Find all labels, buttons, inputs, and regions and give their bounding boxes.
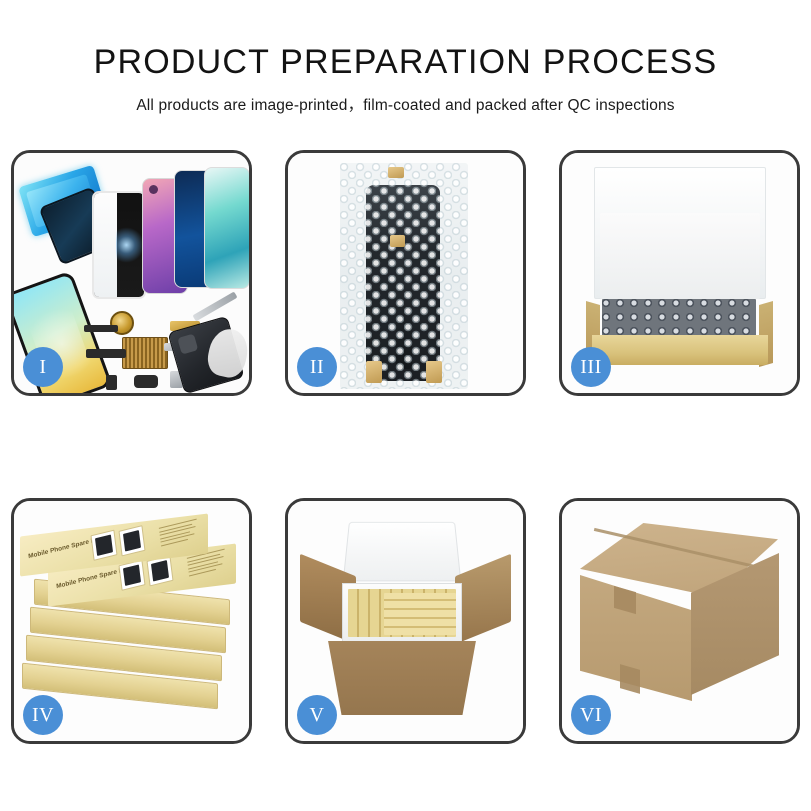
step-4-image: Mobile Phone Spare Parts Mobile Phone Sp… xyxy=(14,501,249,741)
inner-box-front xyxy=(592,335,768,365)
carton-tape-lower xyxy=(620,664,640,694)
carton-flap-right xyxy=(455,554,511,645)
step-badge-2: II xyxy=(297,347,337,387)
foam-sheet xyxy=(600,213,760,299)
step-badge-4: IV xyxy=(23,695,63,735)
bubble-wrapped-product xyxy=(602,299,756,337)
step-panel-1: I xyxy=(11,150,252,396)
phone-black-display xyxy=(92,191,146,299)
connector-part xyxy=(86,349,126,358)
process-steps-grid: I II xyxy=(11,150,803,744)
foam-lid xyxy=(343,522,462,582)
step-badge-3: III xyxy=(571,347,611,387)
ic-chip-part xyxy=(122,337,168,369)
step-panel-2: II xyxy=(285,150,526,396)
step-badge-1: I xyxy=(23,347,63,387)
header: PRODUCT PREPARATION PROCESS All products… xyxy=(0,0,811,115)
box-spec-lines-1 xyxy=(159,519,199,549)
bubble-wrap-bag xyxy=(340,163,468,389)
step-6-image: VI xyxy=(562,501,797,741)
phone-teal-display xyxy=(204,167,249,289)
small-button-part xyxy=(106,375,117,390)
tape-piece-bottom-left xyxy=(366,361,382,383)
product-preparation-infographic: PRODUCT PREPARATION PROCESS All products… xyxy=(0,0,811,811)
step-2-image: II xyxy=(288,153,523,393)
step-panel-5: V xyxy=(285,498,526,744)
gold-boxes-row-back xyxy=(384,593,456,635)
step-panel-6: VI xyxy=(559,498,800,744)
bubble-texture xyxy=(340,163,468,389)
page-subtitle: All products are image-printed，film-coat… xyxy=(0,93,811,115)
step-3-image: III xyxy=(562,153,797,393)
flex-cable-part xyxy=(84,325,118,332)
step-badge-6: VI xyxy=(571,695,611,735)
step-panel-3: III xyxy=(559,150,800,396)
tape-piece-middle xyxy=(390,235,405,247)
tape-piece-bottom-right xyxy=(426,361,442,383)
step-5-image: V xyxy=(288,501,523,741)
page-title: PRODUCT PREPARATION PROCESS xyxy=(0,44,811,81)
speaker-part xyxy=(134,375,158,388)
step-panel-4: Mobile Phone Spare Parts Mobile Phone Sp… xyxy=(11,498,252,744)
tape-piece-top xyxy=(388,167,404,178)
step-badge-5: V xyxy=(297,695,337,735)
box-window-1b xyxy=(119,525,146,556)
cracked-screen-graphic xyxy=(116,226,142,263)
tweezers-tool xyxy=(192,291,237,321)
box-window-2a xyxy=(119,560,146,591)
step-1-image: I xyxy=(14,153,249,393)
carton-front-wall xyxy=(318,641,486,715)
box-window-1a xyxy=(91,530,118,561)
